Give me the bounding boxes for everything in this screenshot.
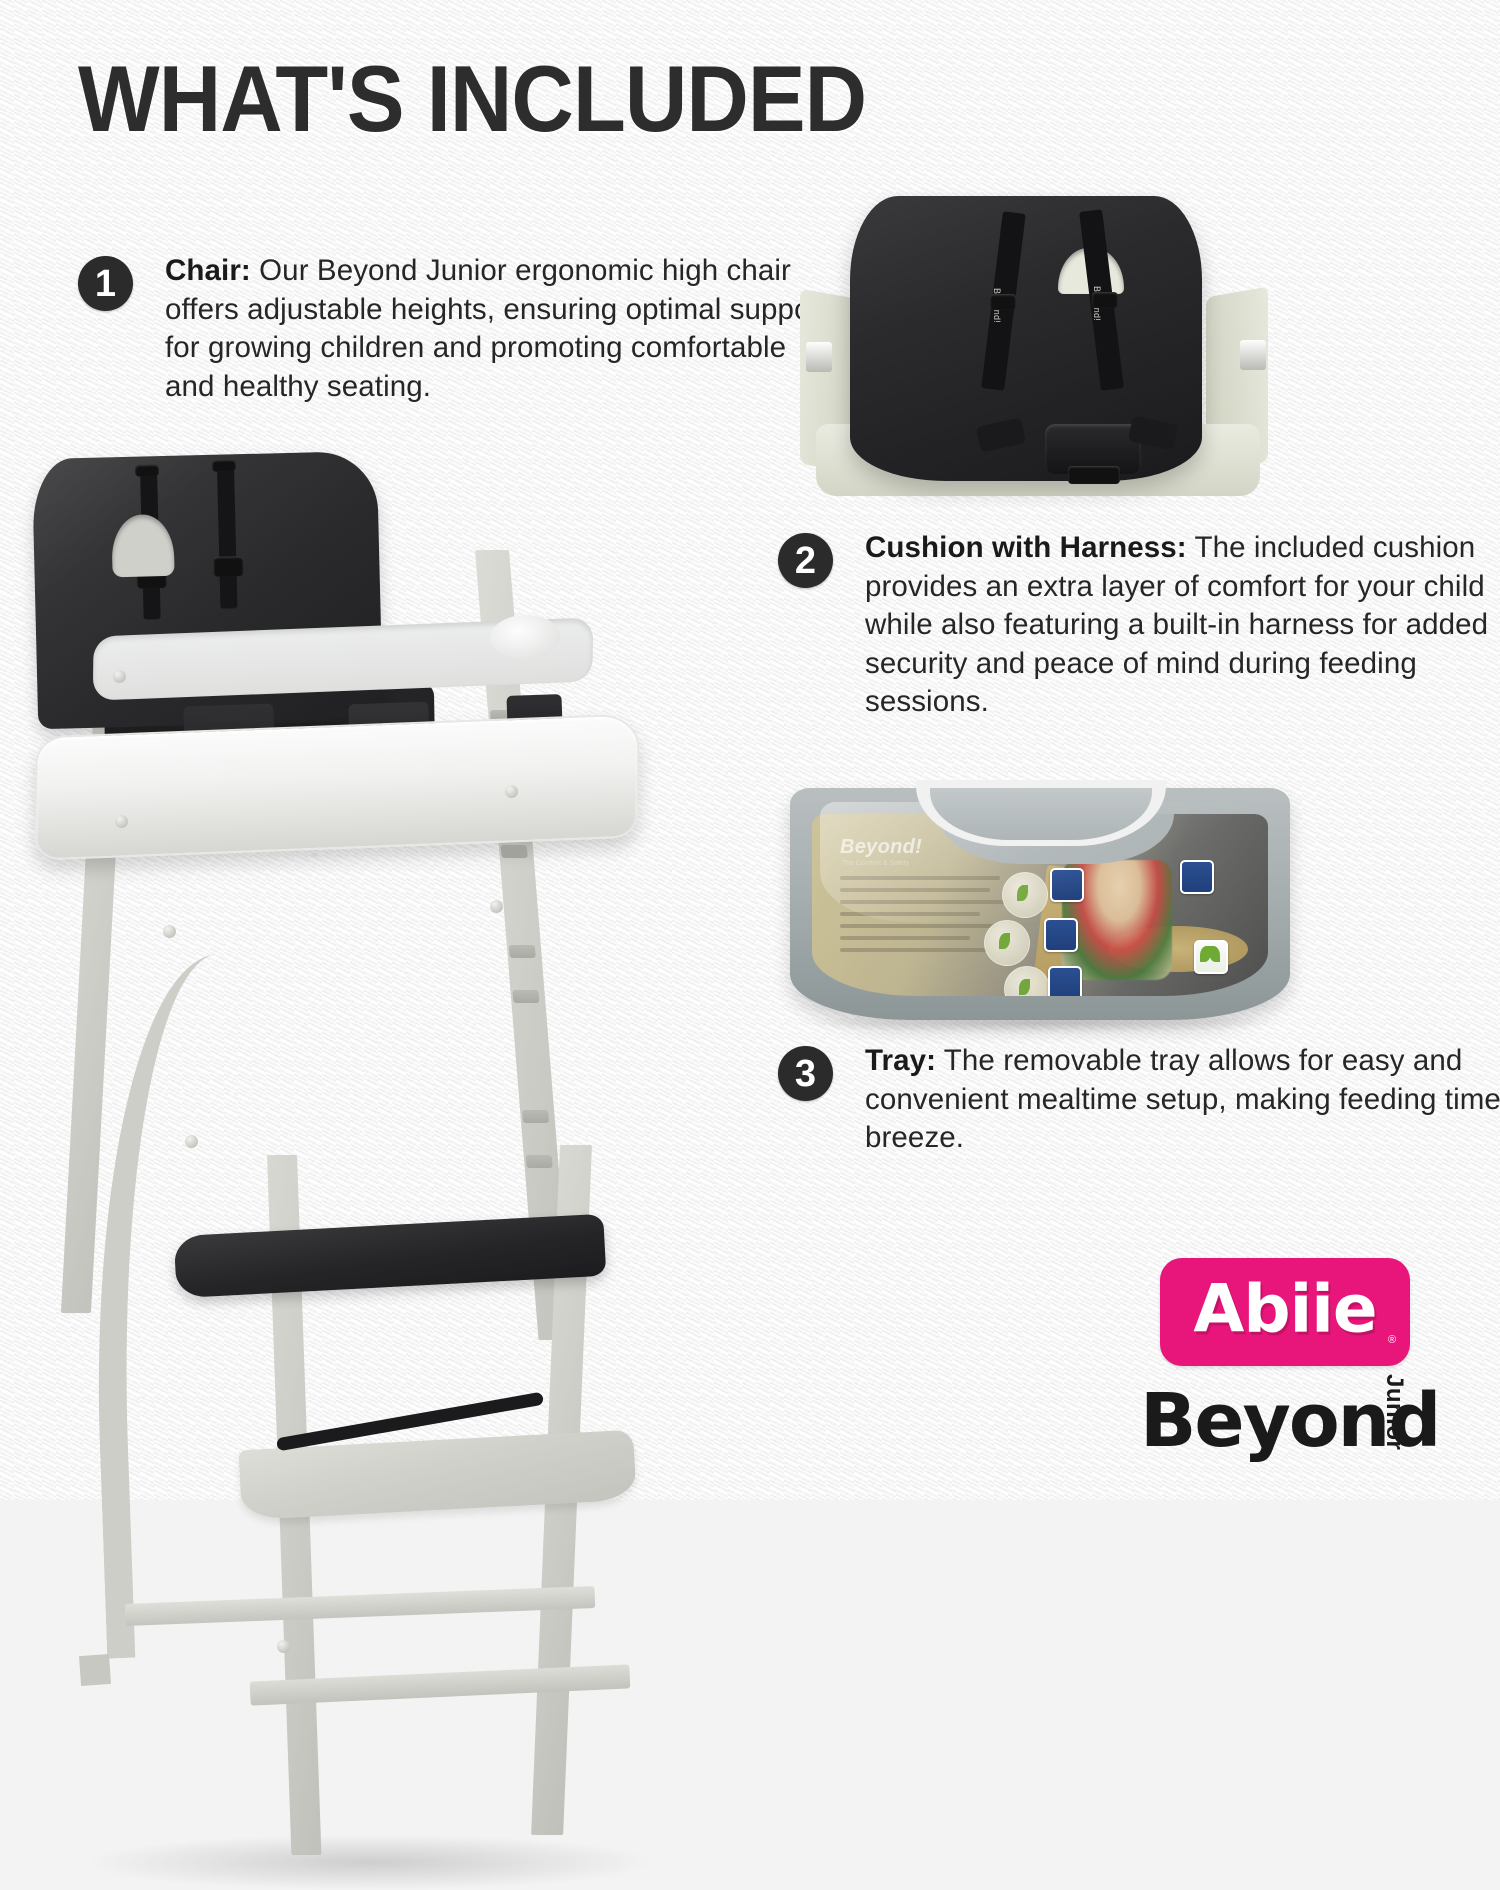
product-photo-tray: Beyond! The Comfort & Safety: [790, 780, 1290, 1035]
feature-body-tray: The removable tray allows for easy and c…: [865, 1044, 1500, 1154]
chair-foot-left: [79, 1654, 111, 1686]
page-title: WHAT'S INCLUDED: [78, 52, 866, 146]
feature-text-chair: Chair: Our Beyond Junior ergonomic high …: [165, 252, 830, 406]
feature-text-cushion: Cushion with Harness: The included cushi…: [865, 529, 1500, 722]
step-number-badge-3: 3: [778, 1046, 833, 1101]
feature-text-tray: Tray: The removable tray allows for easy…: [865, 1042, 1500, 1158]
product-photo-high-chair: [35, 455, 685, 1465]
registered-trademark-icon: ®: [1388, 1334, 1396, 1346]
step-number-badge-1: 1: [78, 256, 133, 311]
feature-body-chair: Our Beyond Junior ergonomic high chair o…: [165, 254, 829, 403]
tray-feature-icon-adjustable: [1044, 918, 1078, 952]
chair-tray: [34, 713, 639, 860]
brand-logo: Abiie ® Beyond Junior: [1160, 1258, 1460, 1463]
tray-feature-icon-dishwasher-safe: [1180, 860, 1214, 894]
junior-wordmark: Junior: [1380, 1374, 1408, 1450]
feature-title-tray: Tray:: [865, 1044, 936, 1077]
tray-feature-icon-eco-friendly: [1194, 940, 1228, 974]
product-photo-cushion-harness: Beyond! Beyond!: [788, 192, 1288, 497]
cushion-pad: Beyond! Beyond!: [850, 196, 1202, 481]
tray-insert-brand-text: Beyond!: [840, 836, 922, 859]
step-number-badge-2: 2: [778, 533, 833, 588]
chair-drop-shadow: [90, 1835, 650, 1890]
tray-feature-icon-wipe-clean: [1050, 868, 1084, 902]
abiie-wordmark: Abiie: [1193, 1270, 1376, 1347]
feature-title-cushion: Cushion with Harness:: [865, 531, 1187, 564]
tray-insert-subtitle: The Comfort & Safety: [842, 860, 909, 867]
infographic-page: WHAT'S INCLUDED 1 Chair: Our Beyond Juni…: [0, 0, 1500, 1500]
tray-feature-icon-temperature: [1048, 966, 1082, 996]
abiie-logo-badge: Abiie ®: [1160, 1258, 1410, 1366]
feature-title-chair: Chair:: [165, 254, 251, 287]
